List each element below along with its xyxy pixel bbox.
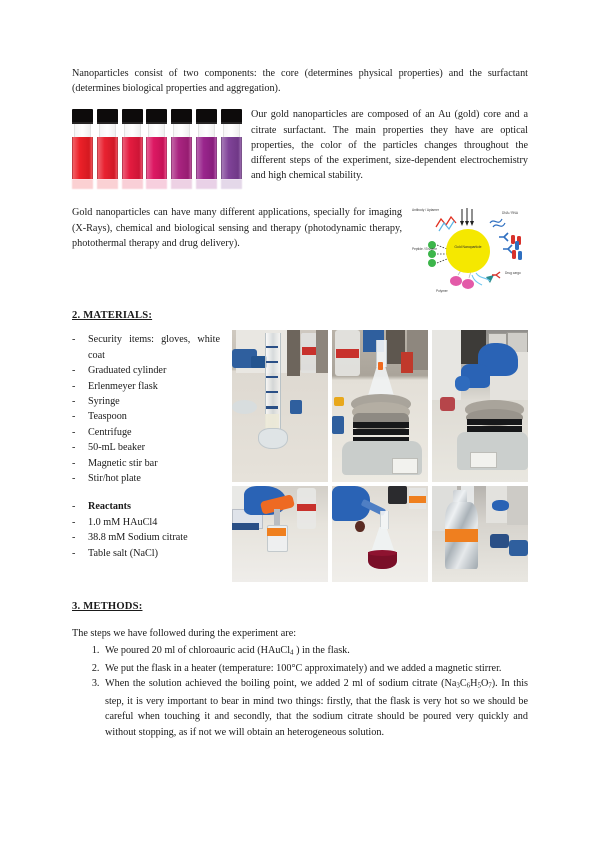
vial-cap xyxy=(221,109,242,124)
applications-row: Gold nanoparticles can have many differe… xyxy=(72,205,528,297)
photo-row-top xyxy=(232,330,528,482)
page-content: Nanoparticles consist of two components:… xyxy=(72,66,528,740)
intro-paragraph: Nanoparticles consist of two components:… xyxy=(72,66,528,96)
material-item: -Reactants xyxy=(72,499,220,514)
vial-reflection xyxy=(171,179,192,189)
vial-reflection xyxy=(72,179,93,189)
method-step: We put the flask in a heater (temperatur… xyxy=(102,661,528,676)
material-item: -Teaspoon xyxy=(72,409,220,424)
vial-reflection xyxy=(196,179,217,189)
np-label-peptide: Peptide / Enzyme xyxy=(412,247,437,251)
list-dash: - xyxy=(72,409,88,424)
list-dash: - xyxy=(72,471,88,486)
vial-neck xyxy=(173,124,190,137)
gold-nanoparticles-paragraph: Our gold nanoparticles are composed of a… xyxy=(251,107,528,183)
hotplate-with-gloved-hands-photo xyxy=(432,330,528,482)
list-dash: - xyxy=(72,530,88,545)
material-item: -1.0 mM HAuCl4 xyxy=(72,515,220,530)
material-item: -Graduated cylinder xyxy=(72,363,220,378)
material-item: -Table salt (NaCl) xyxy=(72,546,220,561)
methods-intro: The steps we have followed during the ex… xyxy=(72,626,528,641)
applications-paragraph: Gold nanoparticles can have many differe… xyxy=(72,205,402,251)
vial-2 xyxy=(97,109,118,179)
vial-5 xyxy=(171,109,192,179)
vial-liquid xyxy=(72,137,93,179)
list-dash: - xyxy=(72,546,88,561)
material-item: -Stir/hot plate xyxy=(72,471,220,486)
material-item: -Syringe xyxy=(72,394,220,409)
vial-series xyxy=(72,109,242,179)
material-label: Table salt (NaCl) xyxy=(88,546,220,561)
material-item: -38.8 mM Sodium citrate xyxy=(72,530,220,545)
methods-heading: 3. METHODS: xyxy=(72,601,528,612)
vial-liquid xyxy=(171,137,192,179)
vial-neck xyxy=(99,124,116,137)
vial-4 xyxy=(146,109,167,179)
vial-liquid xyxy=(122,137,143,179)
syringe-and-vial-photo xyxy=(232,486,328,582)
material-label: Reactants xyxy=(88,499,220,514)
vial-reflection xyxy=(146,179,167,189)
list-dash: - xyxy=(72,394,88,409)
materials-photo-grid xyxy=(232,330,528,586)
material-label: Stir/hot plate xyxy=(88,471,220,486)
vial-liquid xyxy=(221,137,242,179)
red-solution-flask-photo xyxy=(332,486,428,582)
list-dash: - xyxy=(72,515,88,530)
vial-cap xyxy=(97,109,118,124)
method-step: We poured 20 ml of chloroauric acid (HAu… xyxy=(102,643,528,661)
vial-neck xyxy=(148,124,165,137)
list-dash: - xyxy=(72,363,88,378)
materials-heading: 2. MATERIALS: xyxy=(72,310,528,321)
vial-neck xyxy=(124,124,141,137)
material-label: Graduated cylinder xyxy=(88,363,220,378)
vial-cap xyxy=(72,109,93,124)
vial-liquid xyxy=(146,137,167,179)
foil-wrapped-bottle-photo xyxy=(432,486,528,582)
material-item: -Erlenmeyer flask xyxy=(72,379,220,394)
gold-nanoparticle-vials-figure xyxy=(72,107,242,179)
vial-neck xyxy=(198,124,215,137)
material-label: 1.0 mM HAuCl4 xyxy=(88,515,220,530)
vial-liquid xyxy=(97,137,118,179)
vial-6 xyxy=(196,109,217,179)
material-label: Teaspoon xyxy=(88,409,220,424)
vial-reflection xyxy=(221,179,242,189)
document-page: Nanoparticles consist of two components:… xyxy=(0,0,600,848)
vial-7 xyxy=(221,109,242,179)
erlenmeyer-flask-on-hotplate-photo xyxy=(332,330,428,482)
material-label: Syringe xyxy=(88,394,220,409)
vial-cap xyxy=(171,109,192,124)
np-label-drug-cargo: Drug cargo xyxy=(505,271,521,275)
material-item: -Centrifuge xyxy=(72,425,220,440)
vial-reflection xyxy=(97,179,118,189)
materials-row: -Security items: gloves, white coat-Grad… xyxy=(72,330,528,586)
list-dash: - xyxy=(72,440,88,455)
materials-list: -Security items: gloves, white coat-Grad… xyxy=(72,330,220,561)
material-label: Centrifuge xyxy=(88,425,220,440)
np-label-polymer: Polymer xyxy=(436,289,448,293)
np-label-antibody: Antibody / Aptamer xyxy=(412,208,439,212)
material-label: Erlenmeyer flask xyxy=(88,379,220,394)
vial-cap xyxy=(196,109,217,124)
photo-row-bottom xyxy=(232,486,528,582)
vial-reflection xyxy=(122,179,143,189)
material-label: 38.8 mM Sodium citrate xyxy=(88,530,220,545)
list-dash: - xyxy=(72,425,88,440)
material-label: Security items: gloves, white coat xyxy=(88,332,220,363)
material-item: -Security items: gloves, white coat xyxy=(72,332,220,363)
list-dash: - xyxy=(72,379,88,394)
vial-neck xyxy=(223,124,240,137)
np-label-dna: DNA / RNA xyxy=(502,211,518,215)
nanoparticle-core-label: Gold Nanoparticle xyxy=(446,245,490,249)
vial-cap xyxy=(146,109,167,124)
vial-3 xyxy=(122,109,143,179)
vial-1 xyxy=(72,109,93,179)
list-dash: - xyxy=(72,332,88,363)
graduated-cylinder-photo xyxy=(232,330,328,482)
list-dash: - xyxy=(72,499,88,514)
material-label: Magnetic stir bar xyxy=(88,456,220,471)
list-spacer xyxy=(72,486,220,499)
vial-cap xyxy=(122,109,143,124)
material-item: -50-mL beaker xyxy=(72,440,220,455)
vial-neck xyxy=(74,124,91,137)
list-dash: - xyxy=(72,456,88,471)
material-label: 50-mL beaker xyxy=(88,440,220,455)
methods-step-list: We poured 20 ml of chloroauric acid (HAu… xyxy=(72,643,528,740)
gold-nanoparticle-schematic: Gold Nanoparticle Antibody / Aptamer Pep… xyxy=(412,205,528,297)
method-step: When the solution achieved the boiling p… xyxy=(102,676,528,740)
vial-liquid xyxy=(196,137,217,179)
material-item: -Magnetic stir bar xyxy=(72,456,220,471)
vials-and-gold-paragraph-row: Our gold nanoparticles are composed of a… xyxy=(72,107,528,194)
